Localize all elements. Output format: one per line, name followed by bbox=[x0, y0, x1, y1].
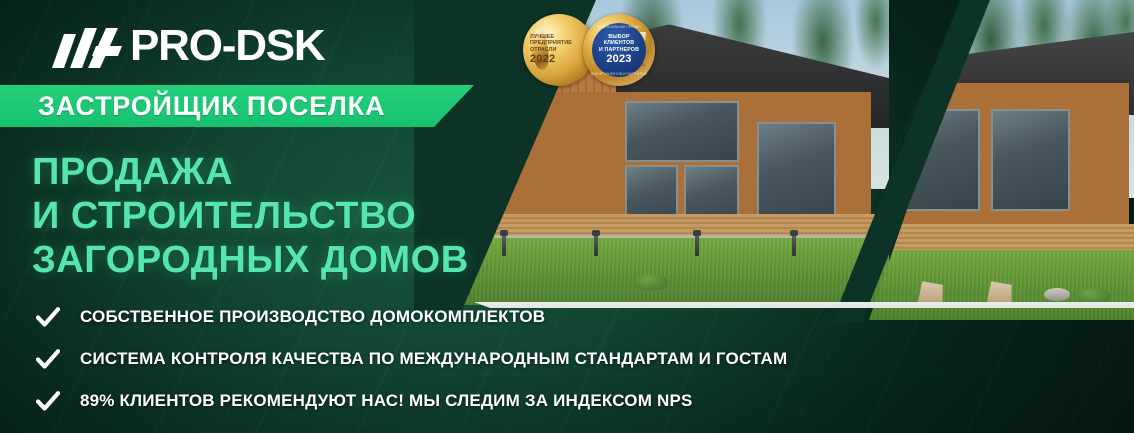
photo-house-terrace bbox=[869, 0, 1134, 320]
window-upper bbox=[625, 101, 739, 162]
shrub bbox=[634, 274, 668, 290]
check-icon bbox=[36, 306, 60, 328]
list-item-label: 89% КЛИЕНТОВ РЕКОМЕНДУЮТ НАС! МЫ СЛЕДИМ … bbox=[80, 391, 693, 411]
bollard-light bbox=[792, 234, 796, 256]
list-item-label: СИСТЕМА КОНТРОЛЯ КАЧЕСТВА ПО МЕЖДУНАРОДН… bbox=[80, 349, 787, 369]
list-item-label: СОБСТВЕННОЕ ПРОИЗВОДСТВО ДОМОКОМПЛЕКТОВ bbox=[80, 307, 545, 327]
terrace-window bbox=[991, 109, 1071, 211]
list-item: СОБСТВЕННОЕ ПРОИЗВОДСТВО ДОМОКОМПЛЕКТОВ bbox=[36, 306, 787, 328]
lawn bbox=[449, 238, 889, 305]
shrub bbox=[1076, 288, 1110, 304]
window-side bbox=[757, 122, 836, 226]
photo-house-main bbox=[449, 0, 889, 305]
check-icon bbox=[36, 390, 60, 412]
award-badges: ЛУЧШЕЕ ПРЕДПРИЯТИЕ ОТРАСЛИ 2022 НАЦИОНАЛ… bbox=[523, 14, 655, 86]
feature-list: СОБСТВЕННОЕ ПРОИЗВОДСТВО ДОМОКОМПЛЕКТОВ … bbox=[36, 306, 787, 412]
award-year: 2023 bbox=[606, 53, 631, 66]
garden-rock bbox=[1044, 288, 1070, 301]
check-icon bbox=[36, 348, 60, 370]
terrace-window bbox=[890, 109, 980, 211]
award-badge-2023: НАЦИОНАЛЬНАЯ ПРЕМИЯ ВЫБОР КЛИЕНТОВ И ПАР… bbox=[583, 14, 655, 86]
bollard-light bbox=[502, 234, 506, 256]
headline-line-2: И СТРОИТЕЛЬСТВО bbox=[32, 194, 469, 238]
award-year: 2022 bbox=[530, 53, 555, 66]
headline-line-3: ЗАГОРОДНЫХ ДОМОВ bbox=[32, 238, 469, 282]
brand-logo[interactable]: PRO-DSK bbox=[38, 24, 325, 68]
headline-line-1: ПРОДАЖА bbox=[32, 150, 469, 194]
pro-dsk-bars-logo-icon bbox=[38, 24, 124, 68]
developer-ribbon-label: ЗАСТРОЙЩИК ПОСЕЛКА bbox=[38, 85, 385, 127]
headline: ПРОДАЖА И СТРОИТЕЛЬСТВО ЗАГОРОДНЫХ ДОМОВ bbox=[32, 150, 469, 282]
bollard-light bbox=[594, 234, 598, 256]
award-subtitle-bottom: ВЫБОР КЛИЕНТОВ И ПАРТНЕРОВ bbox=[583, 72, 655, 76]
promo-banner: PRO-DSK ЗАСТРОЙЩИК ПОСЕЛКА ПРОДАЖА И СТР… bbox=[0, 0, 1134, 433]
list-item: СИСТЕМА КОНТРОЛЯ КАЧЕСТВА ПО МЕЖДУНАРОДН… bbox=[36, 348, 787, 370]
bollard-light bbox=[695, 234, 699, 256]
list-item: 89% КЛИЕНТОВ РЕКОМЕНДУЮТ НАС! МЫ СЛЕДИМ … bbox=[36, 390, 787, 412]
brand-wordmark: PRO-DSK bbox=[130, 24, 325, 68]
